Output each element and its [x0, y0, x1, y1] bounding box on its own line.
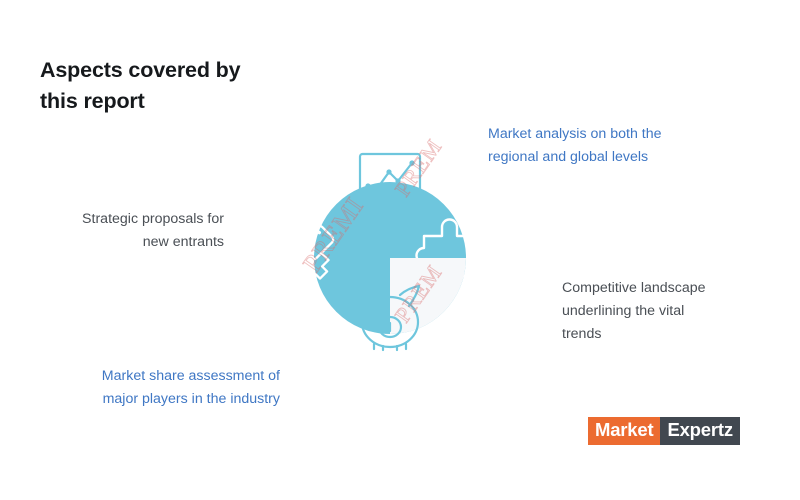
callout-market-share-line-1: Market share assessment of: [20, 365, 280, 388]
callout-competitive-landscape-line-2: underlining the vital: [562, 300, 792, 323]
callout-competitive-landscape: Competitive landscape underlining the vi…: [562, 277, 792, 346]
market-expertz-logo[interactable]: Market Expertz: [588, 417, 740, 445]
callout-market-analysis-line-1: Market analysis on both the: [488, 123, 738, 146]
callout-competitive-landscape-line-3: trends: [562, 323, 792, 346]
slide-canvas: Aspects covered by this report: [0, 0, 800, 500]
logo-expertz-text: Expertz: [660, 417, 739, 445]
callout-competitive-landscape-line-1: Competitive landscape: [562, 277, 792, 300]
callout-market-share: Market share assessment of major players…: [20, 365, 280, 411]
callout-strategic-proposals-line-2: new entrants: [18, 231, 224, 254]
callout-strategic-proposals: Strategic proposals for new entrants: [18, 208, 224, 254]
callout-strategic-proposals-line-1: Strategic proposals for: [18, 208, 224, 231]
callout-market-analysis-line-2: regional and global levels: [488, 146, 738, 169]
callout-market-share-line-2: major players in the industry: [20, 388, 280, 411]
page-title-line-1: Aspects covered by: [40, 55, 340, 86]
logo-market-text: Market: [588, 417, 660, 445]
callout-market-analysis: Market analysis on both the regional and…: [488, 123, 738, 169]
